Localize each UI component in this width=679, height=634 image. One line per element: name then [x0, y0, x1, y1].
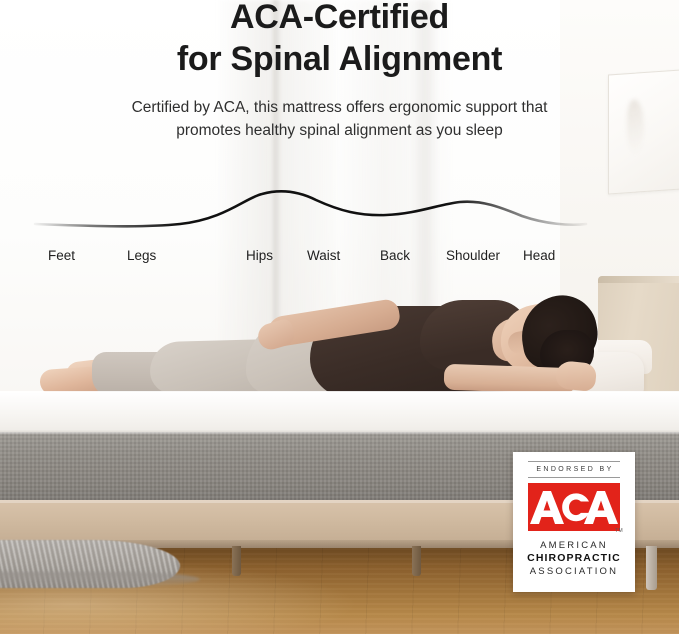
badge-rule-bottom: [528, 477, 620, 478]
spine-label-hips: Hips: [246, 248, 273, 263]
trademark-symbol: TM: [615, 528, 623, 534]
hand-under-pillow: [555, 360, 598, 392]
subtitle-line-1: Certified by ACA, this mattress offers e…: [0, 96, 679, 119]
bed-leg-left: [232, 546, 241, 576]
org-line-american: AMERICAN: [527, 539, 621, 552]
org-line-chiropractic: CHIROPRACTIC: [527, 552, 621, 565]
headline-line-1: ACA-Certified: [0, 0, 679, 38]
spine-label-waist: Waist: [307, 248, 340, 263]
org-line-association: ASSOCIATION: [527, 565, 621, 578]
spine-alignment-curve: [30, 180, 590, 242]
bed-leg-center: [412, 546, 421, 576]
mattress-top-layer: [0, 392, 679, 434]
badge-endorsed-by-text: ENDORSED BY: [536, 466, 613, 473]
aca-logo: TM: [524, 483, 624, 531]
subtitle-line-2: promotes healthy spinal alignment as you…: [0, 119, 679, 142]
headline-line-2: for Spinal Alignment: [0, 38, 679, 80]
aca-endorsement-badge: ENDORSED BY TM AMERICAN CHIROPRACTIC ASS…: [513, 452, 635, 592]
subtitle: Certified by ACA, this mattress offers e…: [0, 96, 679, 142]
badge-rule-top: [528, 461, 620, 462]
spine-label-feet: Feet: [48, 248, 75, 263]
spine-label-shoulder: Shoulder: [446, 248, 500, 263]
badge-organization-name: AMERICAN CHIROPRACTIC ASSOCIATION: [527, 539, 621, 578]
product-lifestyle-image: ACA-Certified for Spinal Alignment Certi…: [0, 0, 679, 634]
aca-logo-mark: [524, 483, 624, 531]
page-title: ACA-Certified for Spinal Alignment: [0, 0, 679, 80]
spine-label-legs: Legs: [127, 248, 156, 263]
spine-label-row: Feet Legs Hips Waist Back Shoulder Head: [0, 248, 679, 268]
furniture-leg-right: [646, 546, 657, 590]
spine-label-head: Head: [523, 248, 555, 263]
spine-label-back: Back: [380, 248, 410, 263]
